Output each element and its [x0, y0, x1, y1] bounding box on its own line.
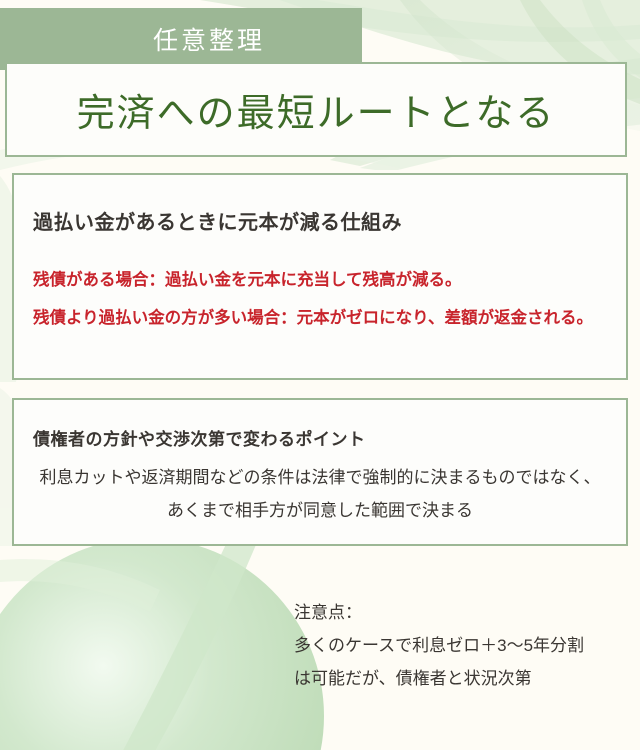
panel-two-body-line-2: あくまで相手方が同意した範囲で決まる [14, 496, 626, 521]
panel-one-heading: 過払い金があるときに元本が減る仕組み [33, 206, 402, 235]
category-tab-banner: 任意整理 [0, 8, 362, 70]
note-line-3: は可能だが、債権者と状況次第 [294, 662, 584, 695]
panel-two-heading: 債権者の方針や交渉次第で変わるポイント [33, 425, 366, 450]
page-title: 完済への最短ルートとなる [77, 82, 556, 137]
note-line-2: 多くのケースで利息ゼロ＋3〜5年分割 [294, 629, 584, 662]
panel-overpayment-mechanism: 過払い金があるときに元本が減る仕組み 残債がある場合：過払い金を元本に充当して残… [12, 173, 628, 380]
panel-one-red-line-2: 残債より過払い金の方が多い場合：元本がゼロになり、差額が返金される。 [33, 304, 593, 328]
panel-two-body-line-1: 利息カットや返済期間などの条件は法律で強制的に決まるものではなく、 [14, 463, 626, 488]
panel-negotiation-points: 債権者の方針や交渉次第で変わるポイント 利息カットや返済期間などの条件は法律で強… [12, 398, 628, 546]
panel-one-red-line-1: 残債がある場合：過払い金を元本に充当して残高が減る。 [33, 266, 462, 290]
category-tab-label: 任意整理 [97, 21, 265, 57]
note-block: 注意点： 多くのケースで利息ゼロ＋3〜5年分割 は可能だが、債権者と状況次第 [294, 596, 584, 695]
page-title-box: 完済への最短ルートとなる [5, 62, 627, 157]
note-line-1: 注意点： [294, 596, 584, 629]
